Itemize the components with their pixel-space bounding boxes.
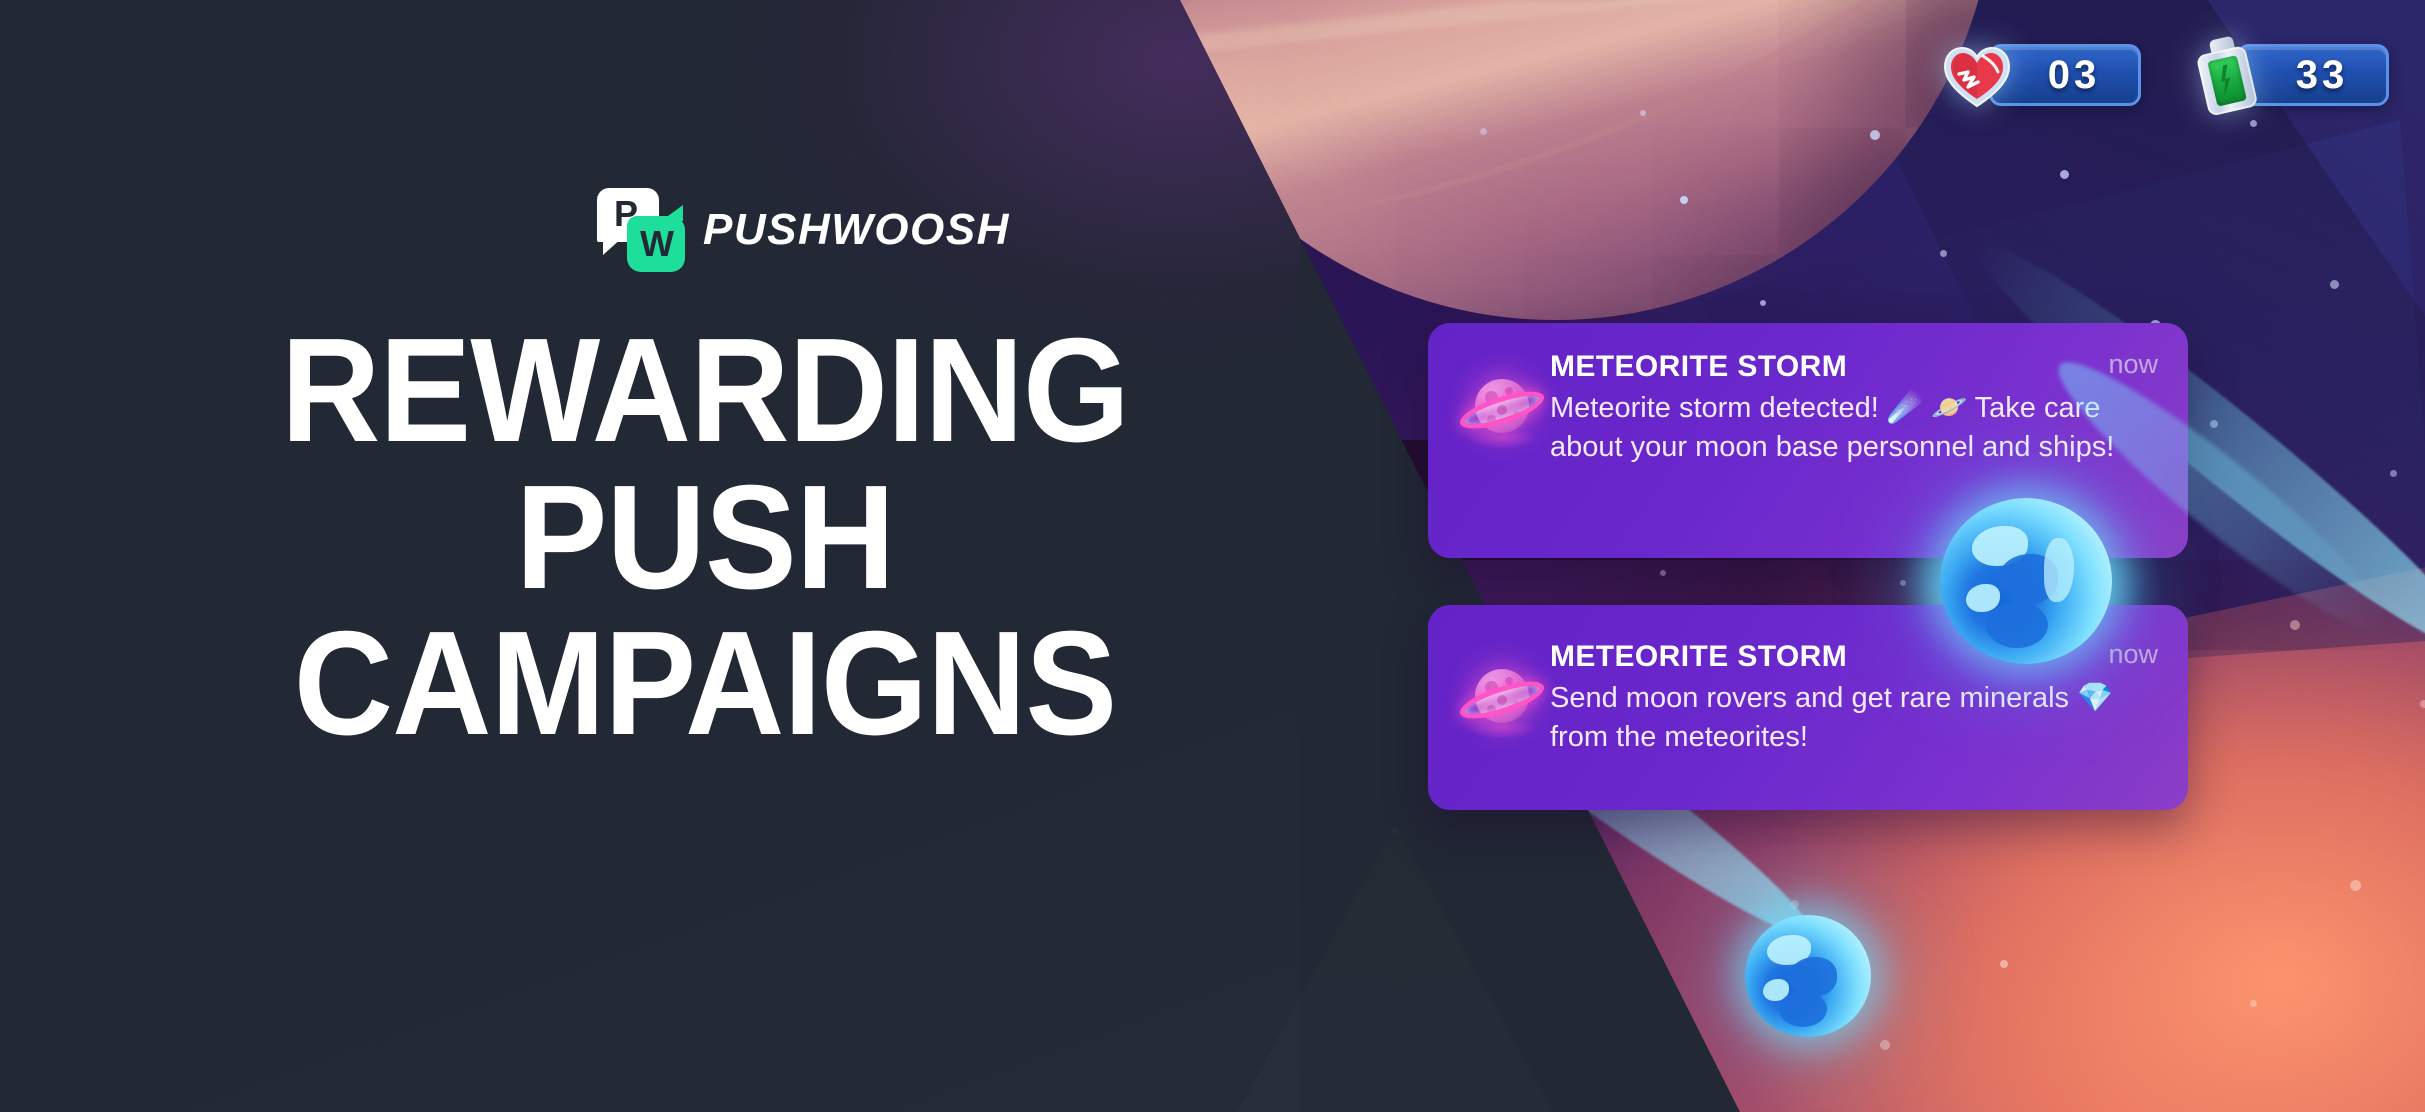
notification-timestamp: now bbox=[2108, 641, 2158, 668]
battery-value: 33 bbox=[2296, 55, 2349, 95]
star bbox=[1880, 1040, 1890, 1050]
logo-wordmark: PUSHWOOSH bbox=[703, 208, 1010, 252]
star bbox=[2420, 700, 2425, 708]
heart-icon bbox=[1939, 36, 2017, 114]
star bbox=[2350, 880, 2361, 891]
battery-icon-shape bbox=[2179, 28, 2273, 123]
ringed-planet-icon bbox=[1454, 639, 1550, 757]
ringed-planet-icon bbox=[1454, 349, 1550, 467]
notification-body: Send moon rovers and get rare minerals 💎… bbox=[1550, 679, 2160, 756]
star bbox=[2060, 170, 2069, 179]
star bbox=[2290, 620, 2300, 630]
rocket-silhouette bbox=[1230, 825, 1560, 1112]
star bbox=[1660, 570, 1666, 576]
speech-bubble-green-icon: W bbox=[627, 216, 685, 272]
star bbox=[2330, 280, 2339, 289]
hud-battery[interactable]: 33 bbox=[2187, 36, 2389, 114]
pushwoosh-logo-mark: P W bbox=[597, 188, 681, 272]
banner-canvas: P W PUSHWOOSH REWARDING PUSH CAMPAIGNS bbox=[0, 0, 2425, 1112]
star bbox=[1760, 300, 1766, 306]
notification-body: Meteorite storm detected! ☄️ 🪐 Take care… bbox=[1550, 389, 2160, 466]
headline-line-3: CAMPAIGNS bbox=[180, 611, 1231, 758]
page-title: REWARDING PUSH CAMPAIGNS bbox=[180, 318, 1231, 758]
notification-timestamp: now bbox=[2108, 351, 2158, 378]
star bbox=[2250, 1000, 2257, 1007]
headline-line-2: PUSH bbox=[180, 465, 1231, 612]
headline-line-1: REWARDING bbox=[180, 318, 1231, 465]
star bbox=[1900, 580, 1906, 586]
game-hud: 03 33 bbox=[1939, 36, 2389, 114]
star bbox=[1480, 128, 1487, 135]
star bbox=[1940, 250, 1947, 257]
battery-icon bbox=[2187, 36, 2265, 114]
meteor-head-lower bbox=[1745, 915, 1871, 1037]
star bbox=[2000, 960, 2008, 968]
logo-letter-w: W bbox=[640, 226, 674, 262]
star bbox=[2390, 470, 2397, 477]
star bbox=[1680, 196, 1688, 204]
star bbox=[1640, 110, 1646, 116]
meteor-head-overlay bbox=[1940, 498, 2112, 664]
star bbox=[1870, 130, 1880, 140]
hud-lives[interactable]: 03 bbox=[1939, 36, 2141, 114]
heart-icon-svg bbox=[1943, 46, 2011, 108]
star bbox=[2250, 120, 2257, 127]
lives-value: 03 bbox=[2048, 55, 2101, 95]
pushwoosh-logo[interactable]: P W PUSHWOOSH bbox=[597, 188, 1010, 272]
